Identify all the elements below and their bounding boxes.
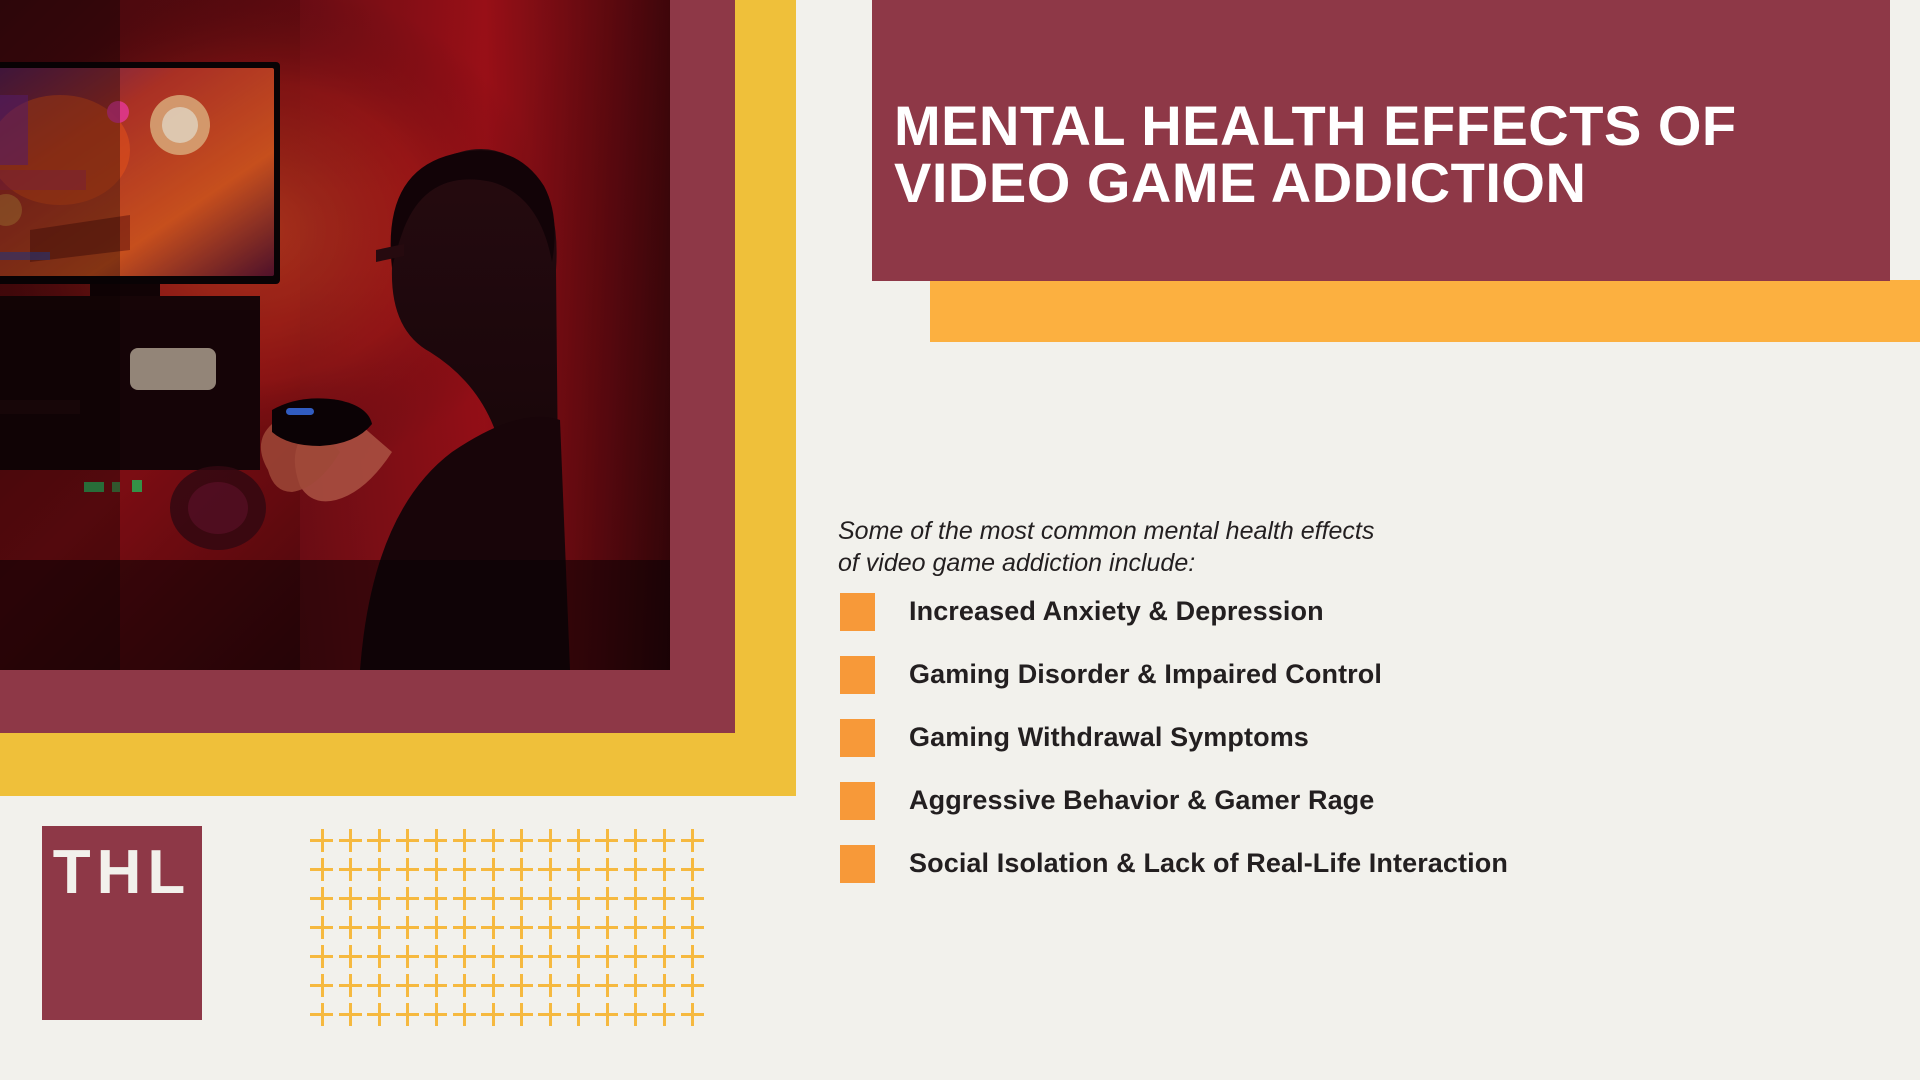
plus-icon (679, 884, 708, 913)
gamer-photo-illustration (0, 0, 670, 670)
plus-icon (650, 855, 679, 884)
plus-icon (622, 942, 651, 971)
plus-icon (365, 884, 394, 913)
plus-icon (394, 971, 423, 1000)
list-item-label: Social Isolation & Lack of Real-Life Int… (909, 848, 1508, 879)
plus-icon (536, 884, 565, 913)
plus-icon (650, 942, 679, 971)
plus-icon (308, 884, 337, 913)
plus-icon (650, 1000, 679, 1029)
plus-icon (508, 855, 537, 884)
plus-icon (479, 855, 508, 884)
plus-icon (593, 1000, 622, 1029)
plus-icon (308, 1000, 337, 1029)
plus-icon (622, 971, 651, 1000)
plus-icon (565, 913, 594, 942)
plus-icon (536, 855, 565, 884)
plus-icon (308, 855, 337, 884)
plus-icon (479, 942, 508, 971)
plus-icon (422, 1000, 451, 1029)
plus-icon (622, 884, 651, 913)
plus-icon (622, 1000, 651, 1029)
list-item: Gaming Withdrawal Symptoms (840, 706, 1840, 769)
plus-icon (650, 826, 679, 855)
plus-icon (622, 826, 651, 855)
list-item-label: Gaming Withdrawal Symptoms (909, 722, 1309, 753)
plus-icon (394, 913, 423, 942)
plus-icon (451, 1000, 480, 1029)
plus-icon (337, 942, 366, 971)
plus-icon (650, 971, 679, 1000)
plus-icon (536, 1000, 565, 1029)
plus-icon (451, 942, 480, 971)
plus-icon (365, 855, 394, 884)
plus-icon (337, 855, 366, 884)
plus-icon (308, 942, 337, 971)
plus-icon (365, 971, 394, 1000)
plus-icon (337, 884, 366, 913)
plus-icon (593, 884, 622, 913)
plus-icon (337, 971, 366, 1000)
plus-icon (451, 913, 480, 942)
effects-list: Increased Anxiety & Depression Gaming Di… (840, 580, 1840, 895)
plus-icon (679, 971, 708, 1000)
plus-icon (479, 913, 508, 942)
square-bullet-icon (840, 782, 875, 820)
plus-icon (422, 971, 451, 1000)
list-item: Aggressive Behavior & Gamer Rage (840, 769, 1840, 832)
plus-icon (365, 1000, 394, 1029)
square-bullet-icon (840, 719, 875, 757)
plus-icon (308, 971, 337, 1000)
plus-icon (508, 884, 537, 913)
plus-icon (679, 855, 708, 884)
plus-icon (679, 1000, 708, 1029)
plus-icon (536, 913, 565, 942)
plus-icon (451, 855, 480, 884)
plus-icon (394, 1000, 423, 1029)
plus-icon (337, 913, 366, 942)
plus-icon (508, 1000, 537, 1029)
plus-icon (451, 884, 480, 913)
plus-icon (479, 971, 508, 1000)
plus-icon (593, 855, 622, 884)
list-item-label: Aggressive Behavior & Gamer Rage (909, 785, 1374, 816)
plus-icon (565, 1000, 594, 1029)
plus-icon (337, 826, 366, 855)
plus-icon (593, 913, 622, 942)
title-block: MENTAL HEALTH EFFECTS OF VIDEO GAME ADDI… (872, 0, 1890, 281)
plus-icon (508, 942, 537, 971)
plus-icon (451, 826, 480, 855)
plus-icon (365, 826, 394, 855)
page-title: MENTAL HEALTH EFFECTS OF VIDEO GAME ADDI… (894, 97, 1737, 211)
plus-icon (536, 942, 565, 971)
plus-icon (422, 913, 451, 942)
plus-icon (593, 971, 622, 1000)
thl-logo-text: THL (53, 842, 192, 904)
plus-icon (394, 826, 423, 855)
list-item-label: Increased Anxiety & Depression (909, 596, 1324, 627)
plus-icon (422, 855, 451, 884)
plus-icon (679, 826, 708, 855)
plus-icon (565, 884, 594, 913)
plus-icon (394, 942, 423, 971)
title-underline-bar (930, 280, 1920, 342)
plus-icon (308, 826, 337, 855)
square-bullet-icon (840, 593, 875, 631)
list-item: Increased Anxiety & Depression (840, 580, 1840, 643)
plus-icon (565, 971, 594, 1000)
square-bullet-icon (840, 845, 875, 883)
square-bullet-icon (840, 656, 875, 694)
plus-icon (679, 942, 708, 971)
list-item-label: Gaming Disorder & Impaired Control (909, 659, 1382, 690)
plus-icon (593, 826, 622, 855)
plus-icon (565, 826, 594, 855)
plus-icon (650, 884, 679, 913)
thl-logo: THL (42, 826, 202, 1020)
list-item: Gaming Disorder & Impaired Control (840, 643, 1840, 706)
plus-icon (422, 884, 451, 913)
plus-icon (479, 884, 508, 913)
plus-icon (422, 942, 451, 971)
plus-icon (365, 942, 394, 971)
intro-paragraph: Some of the most common mental health ef… (838, 515, 1638, 579)
plus-icon (536, 971, 565, 1000)
plus-icon (536, 826, 565, 855)
plus-icon (308, 913, 337, 942)
infographic-canvas: MENTAL HEALTH EFFECTS OF VIDEO GAME ADDI… (0, 0, 1920, 1080)
plus-icon (622, 855, 651, 884)
plus-icon (679, 913, 708, 942)
plus-icon (650, 913, 679, 942)
plus-icon (479, 1000, 508, 1029)
plus-icon (479, 826, 508, 855)
list-item: Social Isolation & Lack of Real-Life Int… (840, 832, 1840, 895)
plus-pattern-decoration (308, 826, 707, 1029)
plus-icon (565, 855, 594, 884)
plus-icon (565, 942, 594, 971)
plus-icon (422, 826, 451, 855)
plus-icon (365, 913, 394, 942)
plus-icon (622, 913, 651, 942)
plus-icon (337, 1000, 366, 1029)
gamer-photo (0, 0, 670, 670)
plus-icon (593, 942, 622, 971)
plus-icon (394, 884, 423, 913)
plus-icon (508, 971, 537, 1000)
plus-icon (394, 855, 423, 884)
plus-icon (508, 913, 537, 942)
plus-icon (508, 826, 537, 855)
plus-icon (451, 971, 480, 1000)
